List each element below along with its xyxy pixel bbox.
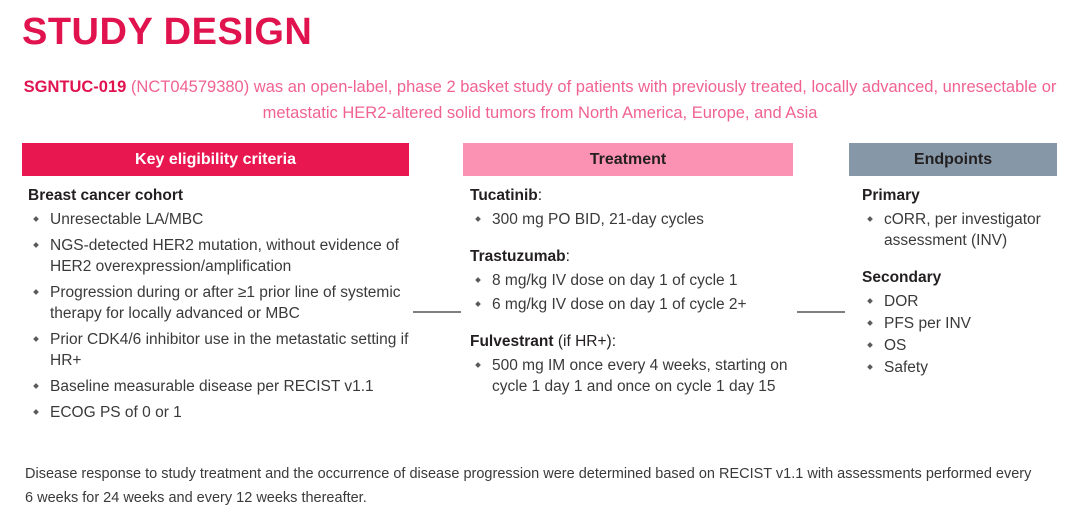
- tucatinib-list: 300 mg PO BID, 21-day cycles: [470, 209, 810, 230]
- eligibility-list: Unresectable LA/MBC NGS-detected HER2 mu…: [28, 209, 428, 423]
- drug-name-suffix: :: [538, 187, 542, 204]
- list-item: 6 mg/kg IV dose on day 1 of cycle 2+: [470, 294, 810, 315]
- bullet-icon: [33, 242, 39, 248]
- drug-name: Tucatinib: [470, 187, 538, 204]
- group-heading: Fulvestrant (if HR+):: [470, 332, 810, 352]
- group-heading: Trastuzumab:: [470, 247, 810, 267]
- list-item: Prior CDK4/6 inhibitor use in the metast…: [28, 329, 428, 371]
- list-item: NGS-detected HER2 mutation, without evid…: [28, 235, 428, 277]
- list-item: OS: [862, 335, 1062, 356]
- bullet-icon: [475, 362, 481, 368]
- list-item: Safety: [862, 357, 1062, 378]
- list-item-label: 6 mg/kg IV dose on day 1 of cycle 2+: [492, 296, 747, 313]
- list-item-label: Progression during or after ≥1 prior lin…: [50, 284, 401, 322]
- group-secondary-endpoints: Secondary DOR PFS per INV OS Safety: [862, 268, 1062, 378]
- bullet-icon: [475, 216, 481, 222]
- group-trastuzumab: Trastuzumab: 8 mg/kg IV dose on day 1 of…: [470, 247, 810, 315]
- bullet-icon: [475, 277, 481, 283]
- list-item: PFS per INV: [862, 313, 1062, 334]
- drug-name: Trastuzumab: [470, 248, 566, 265]
- group-primary-endpoints: Primary cORR, per investigator assessmen…: [862, 186, 1062, 251]
- list-item-label: DOR: [884, 293, 918, 310]
- list-item-label: 8 mg/kg IV dose on day 1 of cycle 1: [492, 272, 738, 289]
- list-item-label: PFS per INV: [884, 315, 971, 332]
- list-item-label: Safety: [884, 359, 928, 376]
- list-item-label: cORR, per investigator assessment (INV): [884, 211, 1041, 249]
- drug-name-suffix: (if HR+):: [554, 333, 616, 350]
- footer-note: Disease response to study treatment and …: [25, 462, 1035, 510]
- column-eligibility: Breast cancer cohort Unresectable LA/MBC…: [28, 186, 428, 428]
- list-item-label: 300 mg PO BID, 21-day cycles: [492, 211, 704, 228]
- column-header-treatment-label: Treatment: [590, 151, 666, 169]
- bullet-icon: [33, 216, 39, 222]
- column-treatment: Tucatinib: 300 mg PO BID, 21-day cycles …: [470, 186, 810, 400]
- list-item-label: Prior CDK4/6 inhibitor use in the metast…: [50, 331, 408, 369]
- list-item-label: OS: [884, 337, 906, 354]
- group-fulvestrant: Fulvestrant (if HR+): 500 mg IM once eve…: [470, 332, 810, 397]
- list-item: ECOG PS of 0 or 1: [28, 402, 428, 423]
- column-header-endpoints: Endpoints: [849, 143, 1057, 176]
- list-item-label: Baseline measurable disease per RECIST v…: [50, 378, 374, 395]
- group-heading: Primary: [862, 186, 1062, 206]
- trastuzumab-list: 8 mg/kg IV dose on day 1 of cycle 1 6 mg…: [470, 270, 810, 315]
- list-item: Baseline measurable disease per RECIST v…: [28, 376, 428, 397]
- list-item-label: ECOG PS of 0 or 1: [50, 404, 182, 421]
- list-item-label: Unresectable LA/MBC: [50, 211, 203, 228]
- bullet-icon: [475, 301, 481, 307]
- list-item: cORR, per investigator assessment (INV): [862, 209, 1062, 251]
- group-heading: Tucatinib:: [470, 186, 810, 206]
- fulvestrant-list: 500 mg IM once every 4 weeks, starting o…: [470, 355, 810, 397]
- bullet-icon: [33, 289, 39, 295]
- list-item: 500 mg IM once every 4 weeks, starting o…: [470, 355, 810, 397]
- bullet-icon: [867, 298, 873, 304]
- group-heading: Secondary: [862, 268, 1062, 288]
- bullet-icon: [33, 383, 39, 389]
- column-header-eligibility-label: Key eligibility criteria: [135, 151, 296, 169]
- bullet-icon: [33, 409, 39, 415]
- bullet-icon: [867, 342, 873, 348]
- group-tucatinib: Tucatinib: 300 mg PO BID, 21-day cycles: [470, 186, 810, 230]
- drug-name-suffix: :: [566, 248, 570, 265]
- column-endpoints: Primary cORR, per investigator assessmen…: [862, 186, 1062, 379]
- group-heading: Breast cancer cohort: [28, 186, 428, 206]
- column-header-treatment: Treatment: [463, 143, 793, 176]
- group-breast-cancer-cohort: Breast cancer cohort Unresectable LA/MBC…: [28, 186, 428, 423]
- list-item: Progression during or after ≥1 prior lin…: [28, 282, 428, 324]
- list-item: 300 mg PO BID, 21-day cycles: [470, 209, 810, 230]
- study-subtitle-text: (NCT04579380) was an open-label, phase 2…: [126, 78, 1056, 122]
- bullet-icon: [33, 336, 39, 342]
- list-item: 8 mg/kg IV dose on day 1 of cycle 1: [470, 270, 810, 291]
- column-header-endpoints-label: Endpoints: [914, 151, 992, 169]
- drug-name: Fulvestrant: [470, 333, 554, 350]
- list-item-label: NGS-detected HER2 mutation, without evid…: [50, 237, 399, 275]
- column-header-eligibility: Key eligibility criteria: [22, 143, 409, 176]
- list-item: DOR: [862, 291, 1062, 312]
- secondary-endpoints-list: DOR PFS per INV OS Safety: [862, 291, 1062, 378]
- primary-endpoints-list: cORR, per investigator assessment (INV): [862, 209, 1062, 251]
- page-title: STUDY DESIGN: [22, 12, 312, 54]
- list-item-label: 500 mg IM once every 4 weeks, starting o…: [492, 357, 788, 395]
- list-item: Unresectable LA/MBC: [28, 209, 428, 230]
- bullet-icon: [867, 364, 873, 370]
- study-subtitle: SGNTUC-019 (NCT04579380) was an open-lab…: [22, 74, 1058, 126]
- bullet-icon: [867, 216, 873, 222]
- bullet-icon: [867, 320, 873, 326]
- study-identifier: SGNTUC-019: [24, 78, 127, 96]
